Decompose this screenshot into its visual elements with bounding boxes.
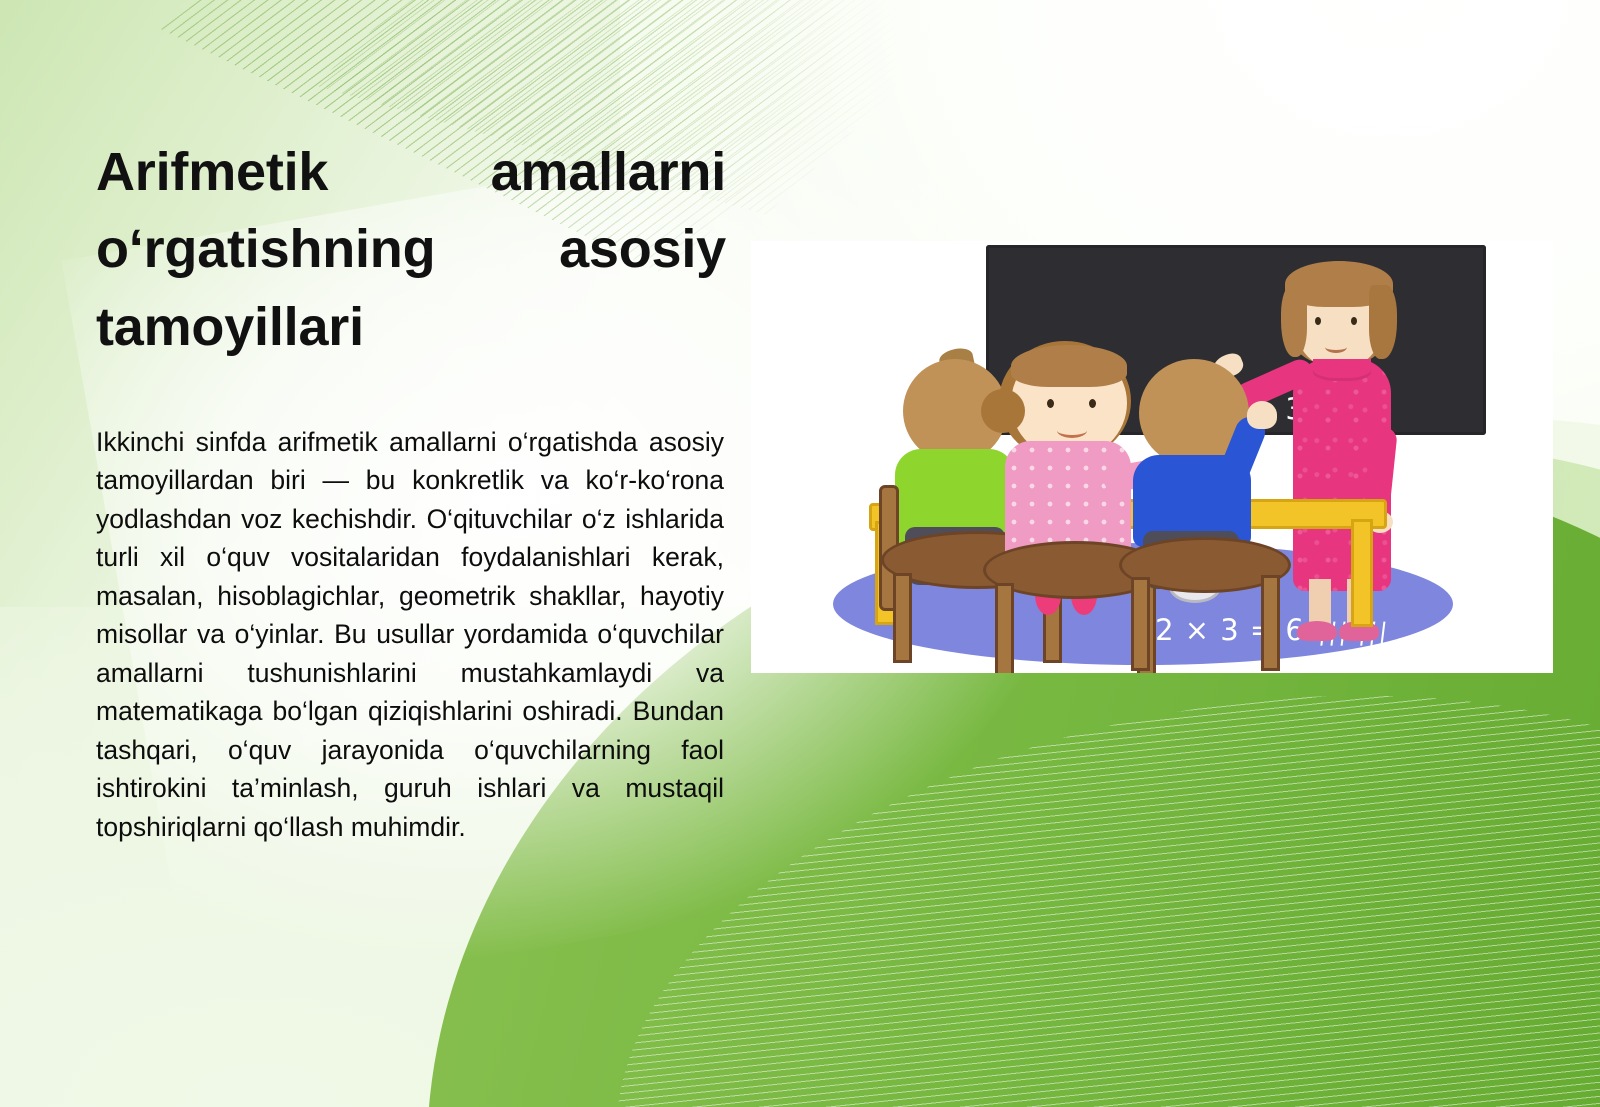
child-pink-eye-left bbox=[1047, 399, 1054, 408]
chair-left-leg-front bbox=[893, 573, 912, 663]
slide-content: Arifmetik amallarni o‘rgatishning asosiy… bbox=[0, 0, 1600, 1107]
classroom-scene: 1 × 3 = 3||| 2 × 3 = 6||| ||| 3 × 3 = 9|… bbox=[751, 241, 1553, 673]
teacher-hair-side-left bbox=[1281, 285, 1307, 357]
chair-middle-leg-front bbox=[995, 583, 1014, 673]
child-pink-ponytail bbox=[981, 389, 1025, 433]
teacher-mouth bbox=[1325, 341, 1347, 353]
desk-right-leg bbox=[1351, 519, 1373, 627]
slide: Arifmetik amallarni o‘rgatishning asosiy… bbox=[0, 0, 1600, 1107]
teacher-collar bbox=[1313, 359, 1371, 381]
page-title: Arifmetik amallarni o‘rgatishning asosiy… bbox=[96, 134, 726, 366]
body-paragraph: Ikkinchi sinfda arifmetik amallarni o‘rg… bbox=[96, 423, 724, 847]
illustration-panel: 1 × 3 = 3||| 2 × 3 = 6||| ||| 3 × 3 = 9|… bbox=[751, 241, 1553, 673]
chair-right-leg-back bbox=[1261, 575, 1280, 671]
child-blue-raised-hand bbox=[1247, 401, 1277, 429]
chair-right-leg-front bbox=[1131, 577, 1150, 671]
teacher-eye-right bbox=[1351, 317, 1357, 325]
teacher-eye-left bbox=[1315, 317, 1321, 325]
child-pink-mouth bbox=[1057, 423, 1087, 438]
child-pink-eye-right bbox=[1089, 399, 1096, 408]
teacher-shoe-left bbox=[1297, 621, 1337, 641]
teacher-hair-side-right bbox=[1369, 285, 1397, 359]
child-pink-hair-fringe bbox=[1011, 345, 1127, 387]
